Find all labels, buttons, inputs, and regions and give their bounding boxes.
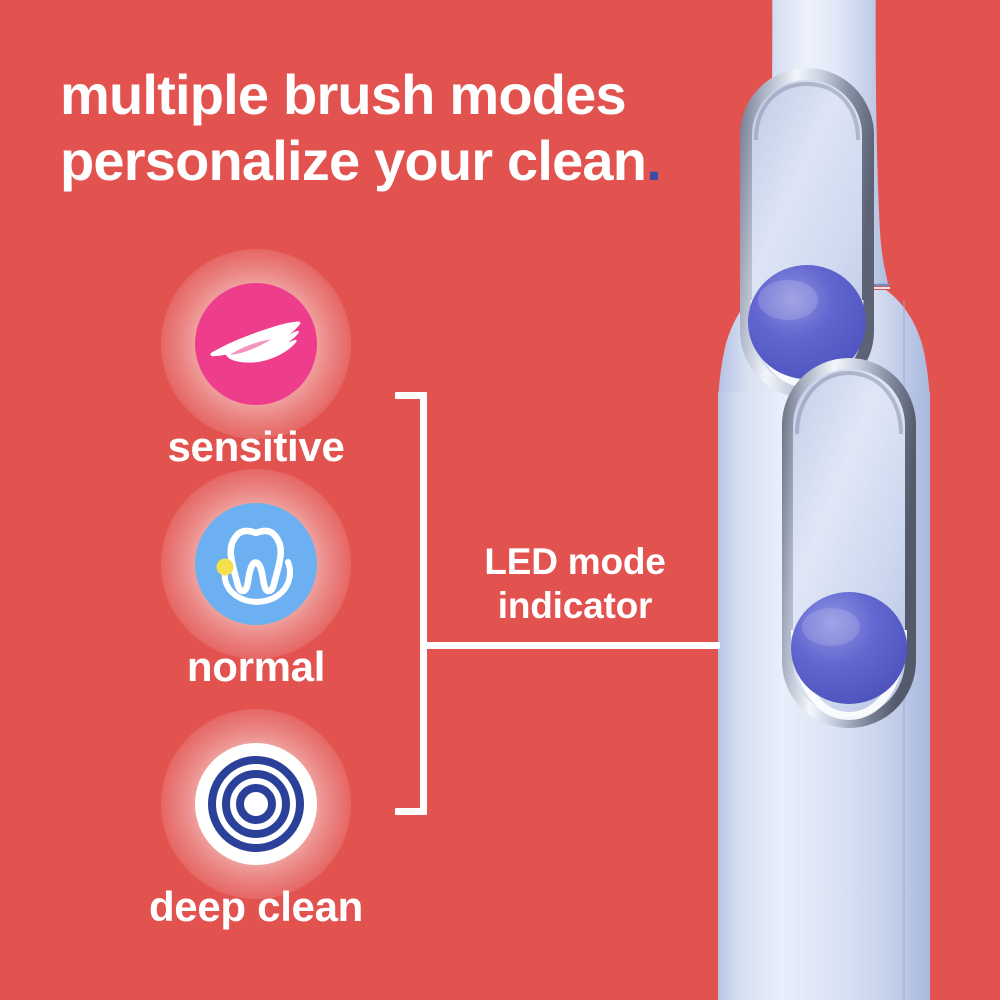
callout-line-1: LED mode xyxy=(484,541,665,582)
callout-line-2: indicator xyxy=(498,585,652,626)
mode-icon-wrap-deep-clean xyxy=(192,740,320,868)
mode-icon-wrap-normal xyxy=(192,500,320,628)
infographic-canvas: multiple brush modes personalize your cl… xyxy=(0,0,1000,1000)
headline-line-2-text: personalize your clean xyxy=(60,129,646,192)
mode-icon-wrap-sensitive xyxy=(192,280,320,408)
mode-label-normal: normal xyxy=(0,644,512,690)
headline-line-1: multiple brush modes xyxy=(60,62,780,128)
mode-label-deep-clean: deep clean xyxy=(0,884,512,930)
headline-period: . xyxy=(646,129,661,192)
concentric-rings-icon xyxy=(202,750,310,858)
callout-bracket-arm-bottom xyxy=(395,808,427,815)
mode-disc-deep-clean xyxy=(195,743,317,865)
tooth-icon xyxy=(204,512,308,616)
headline-line-2: personalize your clean. xyxy=(60,128,780,194)
mode-disc-sensitive xyxy=(195,283,317,405)
accent-dot-icon xyxy=(217,559,234,576)
mode-item-deep-clean[interactable]: deep clean xyxy=(0,740,512,930)
mode-item-sensitive[interactable]: sensitive xyxy=(0,280,512,470)
led-mode-indicator-light[interactable] xyxy=(791,592,907,704)
mode-label-sensitive: sensitive xyxy=(0,424,512,470)
headline: multiple brush modes personalize your cl… xyxy=(60,62,780,194)
callout-bracket-vertical xyxy=(420,392,427,815)
led-gloss xyxy=(802,608,860,646)
mode-disc-normal xyxy=(195,503,317,625)
callout-bracket-arm-top xyxy=(395,392,427,399)
callout-label: LED mode indicator xyxy=(430,540,720,628)
button-window-group[interactable] xyxy=(768,348,948,748)
callout-leader-line xyxy=(420,642,720,649)
feather-icon xyxy=(208,313,304,375)
